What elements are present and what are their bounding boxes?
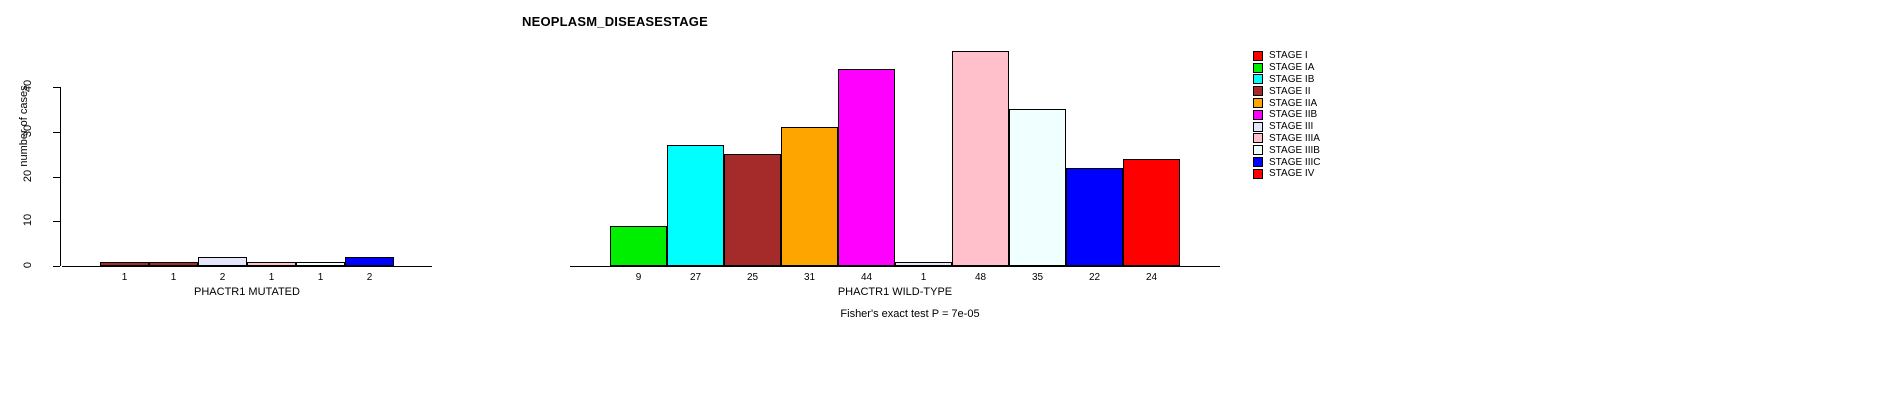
y-axis-tick-label: 30 (22, 111, 34, 151)
bar[interactable] (1009, 109, 1066, 266)
legend-color-swatch (1253, 122, 1263, 132)
legend-label: STAGE IIIC (1269, 157, 1321, 168)
bar[interactable] (100, 262, 149, 266)
y-axis-tick-label: 10 (22, 200, 34, 240)
legend-label: STAGE IIIA (1269, 133, 1320, 144)
y-axis-tick (53, 132, 60, 133)
bar[interactable] (895, 262, 952, 266)
legend-color-swatch (1253, 63, 1263, 73)
legend-item[interactable]: STAGE II (1253, 85, 1321, 97)
legend-label: STAGE II (1269, 86, 1311, 97)
bar-value-label: 1 (247, 272, 296, 283)
bar[interactable] (610, 226, 667, 266)
legend-label: STAGE III (1269, 121, 1313, 132)
legend: STAGE ISTAGE IASTAGE IBSTAGE IISTAGE IIA… (1253, 50, 1321, 180)
legend-color-swatch (1253, 86, 1263, 96)
y-axis-tick-label: 40 (22, 66, 34, 106)
legend-item[interactable]: STAGE IV (1253, 168, 1321, 180)
chart-panel: 112112PHACTR1 MUTATED (62, 0, 432, 400)
y-axis-tick (53, 87, 60, 88)
bar[interactable] (1066, 168, 1123, 266)
legend-item[interactable]: STAGE IA (1253, 62, 1321, 74)
bar[interactable] (247, 262, 296, 266)
legend-label: STAGE IA (1269, 62, 1314, 73)
bar[interactable] (724, 154, 781, 266)
legend-color-swatch (1253, 157, 1263, 167)
bar-value-label: 9 (610, 272, 667, 283)
bar[interactable] (667, 145, 724, 266)
bar-value-label: 1 (895, 272, 952, 283)
y-axis-tick (53, 266, 60, 267)
legend-label: STAGE IB (1269, 74, 1314, 85)
legend-label: STAGE IIA (1269, 98, 1317, 109)
bar[interactable] (345, 257, 394, 266)
bar-value-label: 27 (667, 272, 724, 283)
legend-label: STAGE IIB (1269, 109, 1317, 120)
bar[interactable] (1123, 159, 1180, 266)
panel-axis-label: PHACTR1 WILD-TYPE (570, 286, 1220, 298)
legend-item[interactable]: STAGE IIIA (1253, 133, 1321, 145)
legend-color-swatch (1253, 74, 1263, 84)
x-axis-line (62, 266, 432, 267)
bar-value-label: 35 (1009, 272, 1066, 283)
legend-color-swatch (1253, 133, 1263, 143)
legend-item[interactable]: STAGE IIA (1253, 97, 1321, 109)
x-axis-line (570, 266, 1220, 267)
y-axis-tick-label: 20 (22, 156, 34, 196)
legend-color-swatch (1253, 145, 1263, 155)
bar[interactable] (296, 262, 345, 266)
legend-item[interactable]: STAGE III (1253, 121, 1321, 133)
bar-value-label: 2 (345, 272, 394, 283)
panel-axis-label: PHACTR1 MUTATED (62, 286, 432, 298)
bar[interactable] (781, 127, 838, 266)
legend-item[interactable]: STAGE IIIC (1253, 156, 1321, 168)
bar-value-label: 1 (100, 272, 149, 283)
bar-value-label: 25 (724, 272, 781, 283)
statistical-test-caption: Fisher's exact test P = 7e-05 (570, 308, 1250, 320)
bar[interactable] (198, 257, 247, 266)
legend-item[interactable]: STAGE IIIB (1253, 144, 1321, 156)
bar[interactable] (149, 262, 198, 266)
legend-label: STAGE IV (1269, 168, 1314, 179)
legend-label: STAGE I (1269, 50, 1308, 61)
chart-panel: 927253144148352224PHACTR1 WILD-TYPE (570, 0, 1220, 400)
bar[interactable] (952, 51, 1009, 266)
legend-color-swatch (1253, 51, 1263, 61)
bar-value-label: 2 (198, 272, 247, 283)
legend-label: STAGE IIIB (1269, 145, 1320, 156)
y-axis-tick (53, 221, 60, 222)
bar[interactable] (838, 69, 895, 266)
legend-color-swatch (1253, 169, 1263, 179)
bar-value-label: 22 (1066, 272, 1123, 283)
bar-value-label: 31 (781, 272, 838, 283)
y-axis-line (60, 87, 61, 266)
bar-value-label: 24 (1123, 272, 1180, 283)
legend-item[interactable]: STAGE IB (1253, 74, 1321, 86)
bar-value-label: 48 (952, 272, 1009, 283)
bar-value-label: 44 (838, 272, 895, 283)
legend-item[interactable]: STAGE I (1253, 50, 1321, 62)
legend-color-swatch (1253, 110, 1263, 120)
y-axis-tick (53, 177, 60, 178)
y-axis-tick-label: 0 (22, 245, 34, 285)
bar-value-label: 1 (296, 272, 345, 283)
legend-item[interactable]: STAGE IIB (1253, 109, 1321, 121)
legend-color-swatch (1253, 98, 1263, 108)
bar-value-label: 1 (149, 272, 198, 283)
